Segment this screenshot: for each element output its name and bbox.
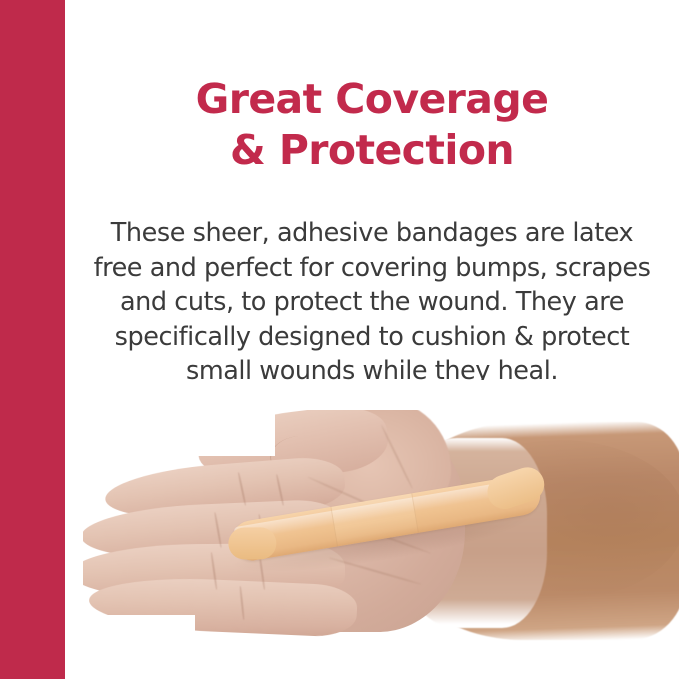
- hand-holding-bandage-photo: [65, 380, 679, 679]
- photo-mask: [65, 380, 275, 456]
- description-line-2: free and perfect for covering bumps, scr…: [65, 251, 679, 286]
- page-title-line-1: Great Coverage: [65, 74, 679, 125]
- description-line-3: and cuts, to protect the wound. They are: [65, 285, 679, 320]
- photo-mask: [65, 615, 195, 679]
- page-title: Great Coverage & Protection: [65, 74, 679, 176]
- description-line-1: These sheer, adhesive bandages are latex: [65, 216, 679, 251]
- open-palm-hand: [65, 380, 679, 679]
- left-red-accent-bar: [0, 0, 65, 679]
- bandage-left-tip: [228, 527, 276, 559]
- description-line-4: specifically designed to cushion & prote…: [65, 320, 679, 355]
- page-title-line-2: & Protection: [65, 125, 679, 176]
- description-paragraph: These sheer, adhesive bandages are latex…: [65, 216, 679, 389]
- product-infographic: Great Coverage & Protection These sheer,…: [0, 0, 679, 679]
